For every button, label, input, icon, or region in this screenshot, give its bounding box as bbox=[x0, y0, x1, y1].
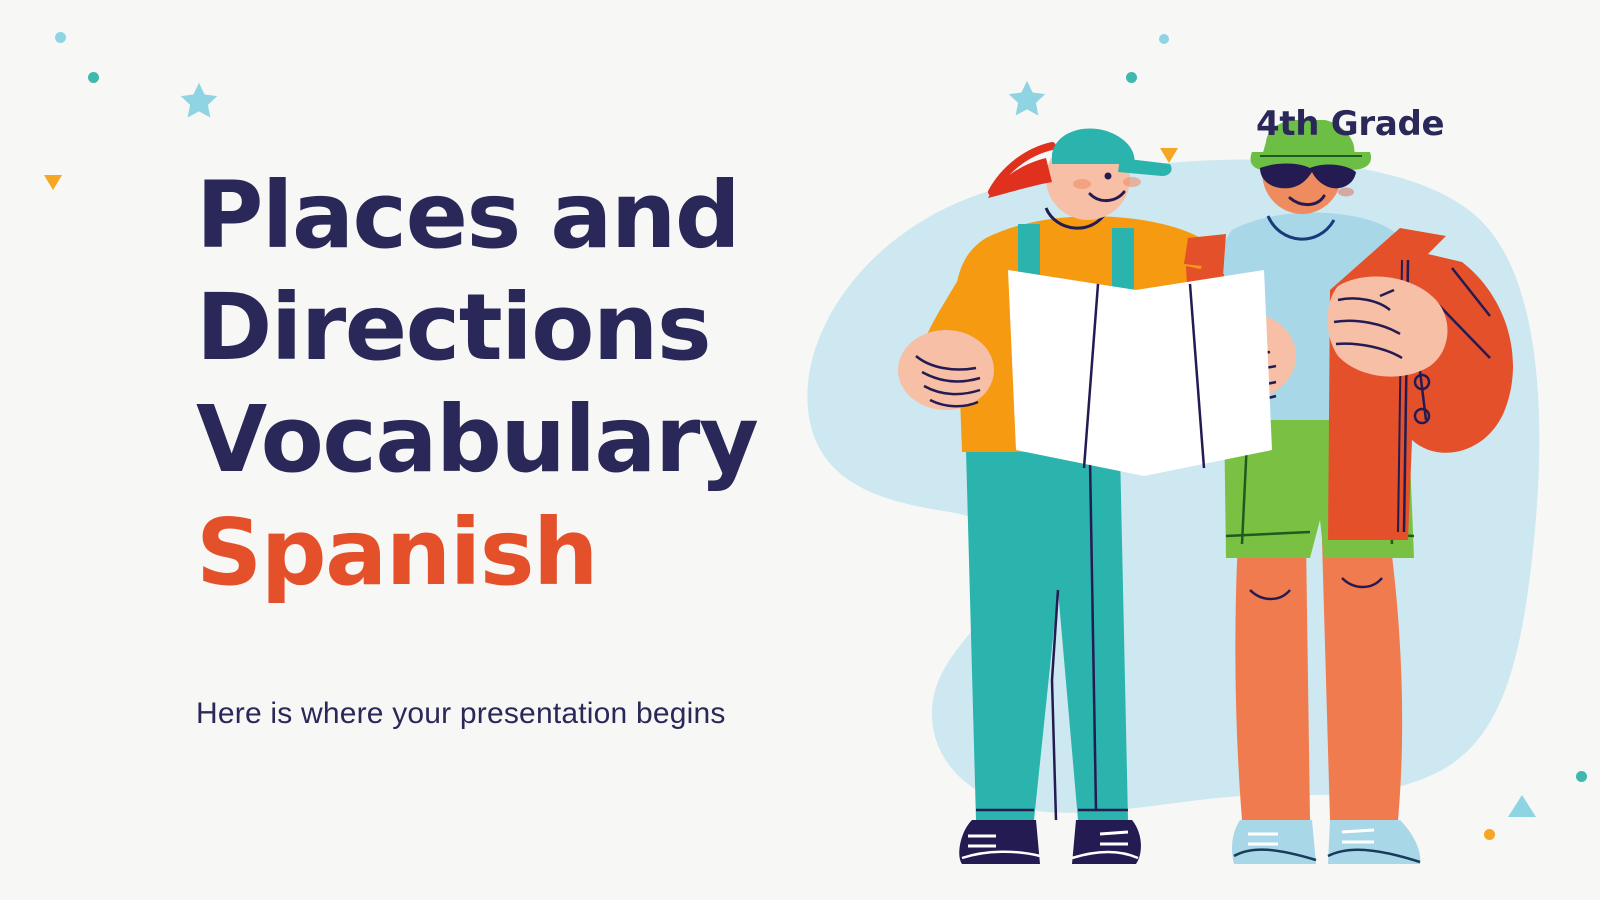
title-line-2: Directions bbox=[196, 274, 710, 381]
slide-subtitle: Here is where your presentation begins bbox=[196, 694, 726, 733]
title-block: Places andDirectionsVocabularySpanish bbox=[196, 160, 836, 609]
dot-teal-bottom-right-icon bbox=[1576, 771, 1587, 782]
left-figure-shoe-left bbox=[959, 820, 1040, 864]
left-figure-hand-left bbox=[898, 330, 994, 410]
star-top-center-icon bbox=[1006, 78, 1048, 120]
dot-pale-blue-top-center-icon bbox=[1159, 34, 1169, 44]
right-figure-leg-left bbox=[1235, 540, 1310, 820]
title-accent-word: Spanish bbox=[196, 497, 836, 609]
presentation-slide: Places andDirectionsVocabularySpanish He… bbox=[0, 0, 1600, 900]
title-line-3: Vocabulary bbox=[196, 386, 757, 493]
two-people-reading-map-illustration bbox=[790, 120, 1550, 900]
grade-label: 4th Grade bbox=[1256, 104, 1444, 144]
right-figure-leg-right bbox=[1322, 540, 1402, 820]
title-line-1: Places and bbox=[196, 162, 739, 269]
triangle-down-left-icon bbox=[44, 175, 62, 190]
left-figure-shoe-right bbox=[1072, 820, 1141, 864]
dot-teal-top-center-icon bbox=[1126, 72, 1137, 83]
dot-teal-top-left-icon bbox=[88, 72, 99, 83]
page-title: Places andDirectionsVocabularySpanish bbox=[196, 160, 836, 609]
map-paper bbox=[1008, 270, 1272, 476]
folded-map bbox=[1008, 270, 1272, 476]
star-top-left-icon bbox=[178, 80, 220, 122]
dot-pale-blue-top-left-icon bbox=[55, 32, 66, 43]
